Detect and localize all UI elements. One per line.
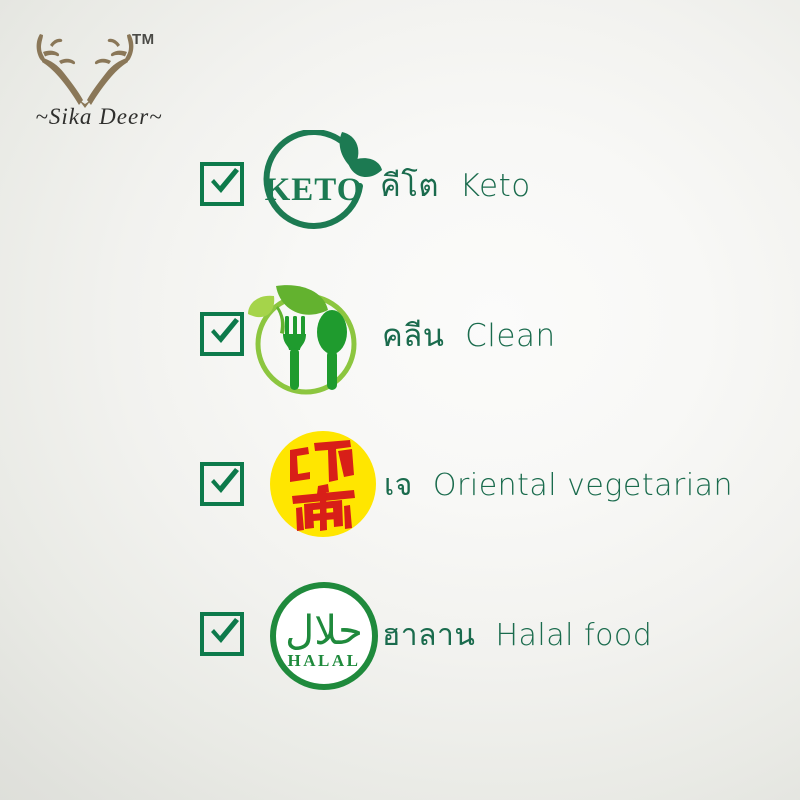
certification-row-oriental-vegetarian: เจ Oriental vegetarian xyxy=(0,424,800,544)
label-jay-thai: เจ xyxy=(384,468,433,503)
label-halal-thai: ฮาลาน xyxy=(382,618,495,653)
label-clean-english: Clean xyxy=(465,318,555,354)
check-icon xyxy=(202,160,246,204)
check-icon xyxy=(202,610,246,654)
check-icon xyxy=(202,460,246,504)
label-halal: ฮาลาน Halal food xyxy=(382,612,652,659)
label-jay-english: Oriental vegetarian xyxy=(433,468,733,503)
halal-arabic-text: حلال xyxy=(285,608,363,654)
fork-icon xyxy=(283,316,306,390)
label-keto-thai: คีโต xyxy=(380,168,460,204)
label-clean-thai: คลีน xyxy=(382,318,465,354)
label-halal-english: Halal food xyxy=(495,618,652,653)
certification-row-halal: حلال HALAL ฮาลาน Halal food xyxy=(0,574,800,694)
jay-certification-badge xyxy=(268,430,378,538)
checkbox-oriental-vegetarian[interactable] xyxy=(200,462,244,506)
checkbox-halal[interactable] xyxy=(200,612,244,656)
keto-badge-text: KETO xyxy=(265,172,364,208)
trademark-symbol: TM xyxy=(132,31,155,48)
certification-row-clean: คลีน Clean xyxy=(0,274,800,394)
brand-logo: TM ~Sika Deer~ xyxy=(14,14,194,129)
deer-antlers-icon xyxy=(26,28,144,108)
clean-certification-badge xyxy=(240,280,372,396)
certification-row-keto: KETO คีโต Keto xyxy=(0,124,800,244)
halal-badge-text: HALAL xyxy=(288,651,361,670)
keto-certification-badge: KETO xyxy=(256,130,384,242)
label-keto: คีโต Keto xyxy=(380,160,531,210)
label-clean: คลีน Clean xyxy=(382,310,556,360)
halal-certification-badge: حلال HALAL xyxy=(266,580,382,692)
label-oriental-vegetarian: เจ Oriental vegetarian xyxy=(384,462,733,509)
poster-canvas: TM ~Sika Deer~ KETO คีโต Keto xyxy=(0,0,800,800)
checkbox-keto[interactable] xyxy=(200,162,244,206)
checkbox-clean[interactable] xyxy=(200,312,244,356)
label-keto-english: Keto xyxy=(460,168,531,204)
